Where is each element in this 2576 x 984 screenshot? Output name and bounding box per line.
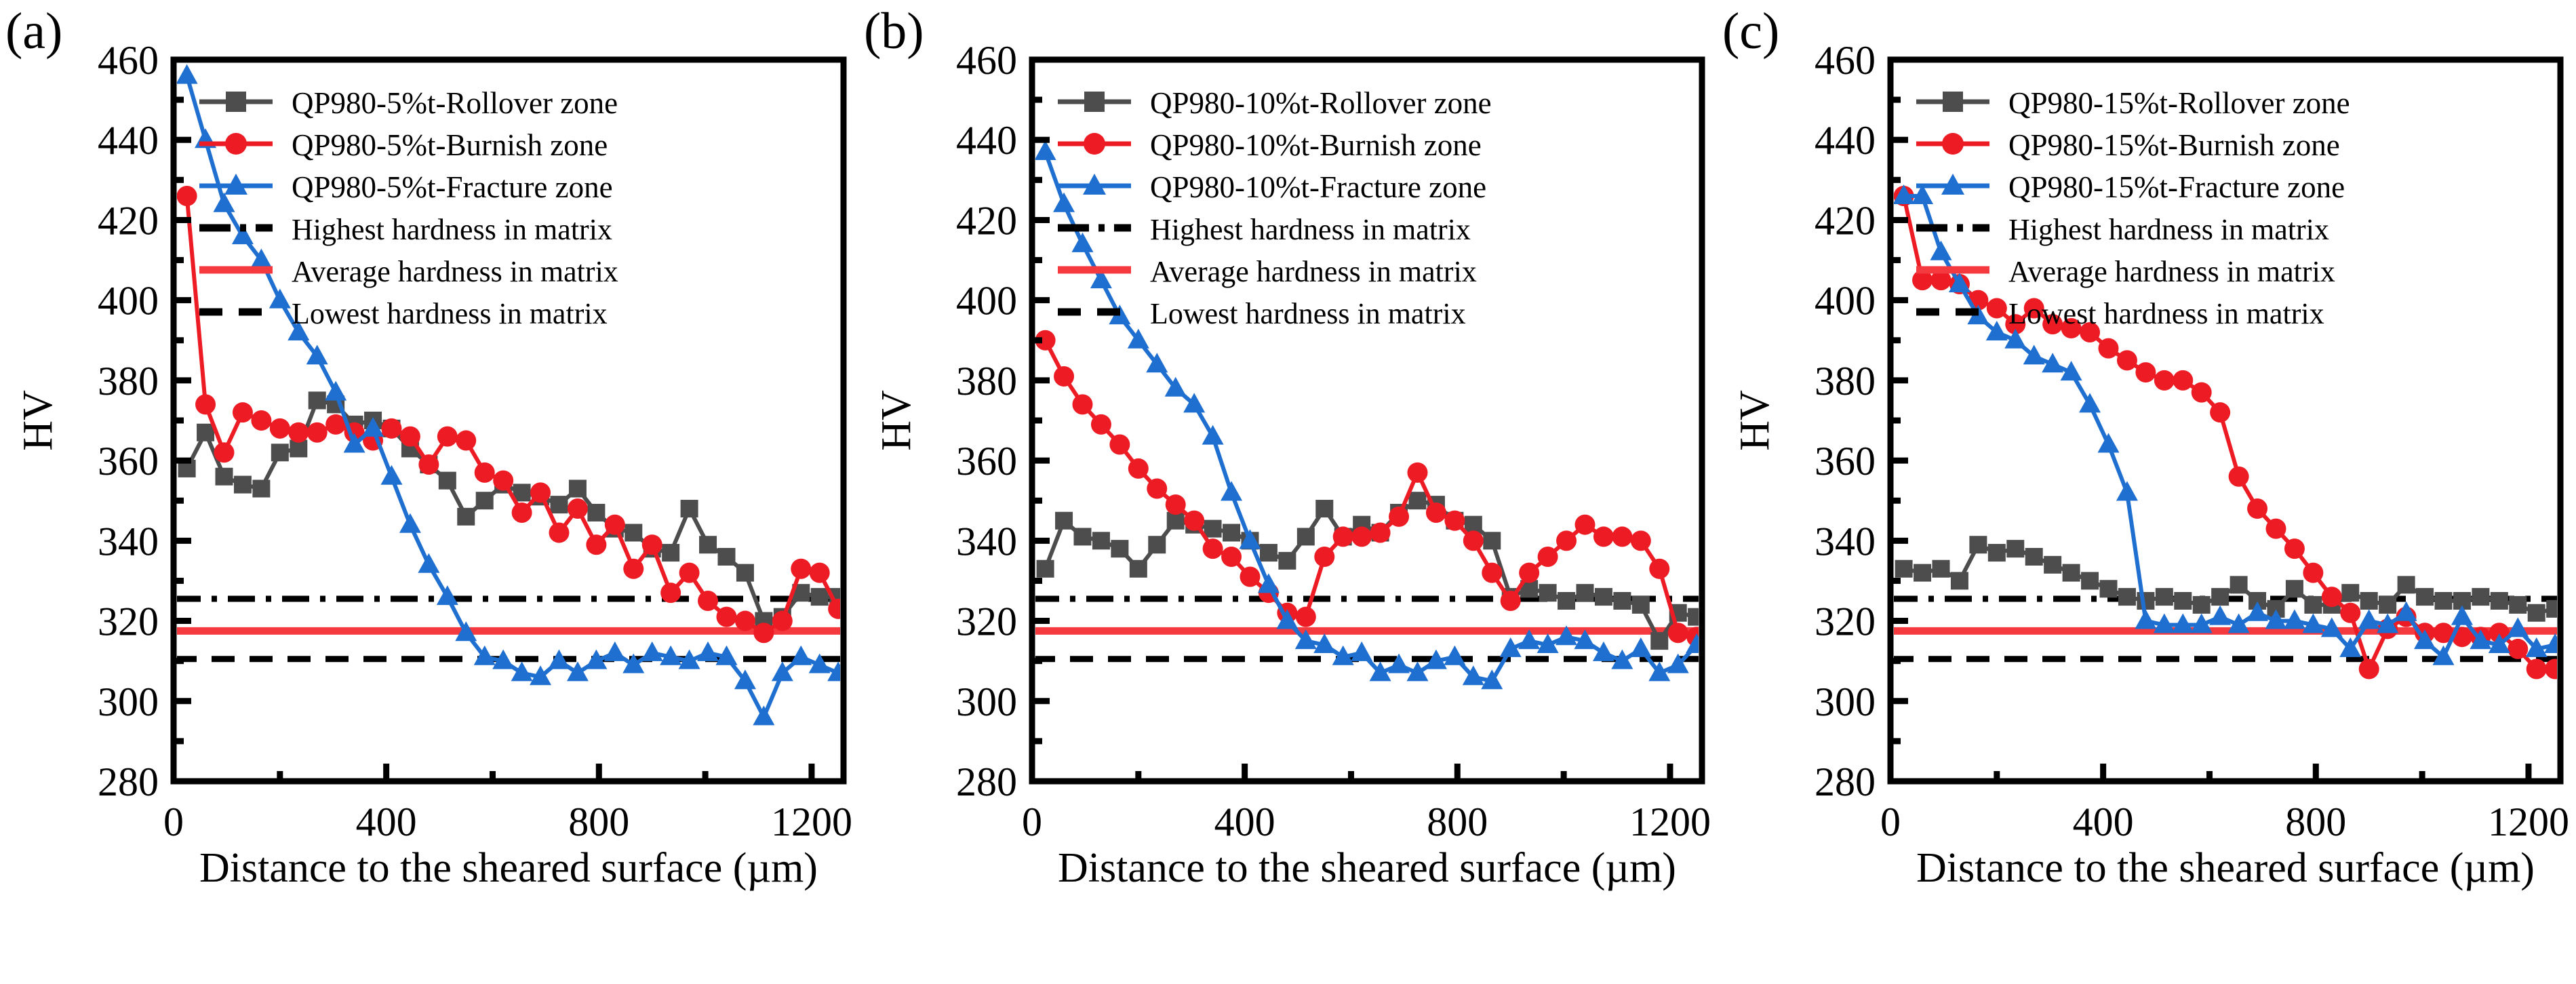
data-point-circle [1987, 298, 2007, 318]
data-point-square [2379, 596, 2396, 614]
x-axis-title: Distance to the sheared surface (µm) [1058, 845, 1676, 891]
y-tick-label: 300 [98, 680, 159, 724]
data-point-square [1204, 520, 1222, 538]
data-point-square [1315, 500, 1333, 517]
data-point-circle [437, 427, 458, 447]
data-point-circle [1556, 530, 1577, 551]
x-axis-title: Distance to the sheared surface (µm) [1916, 845, 2535, 891]
x-tick-label: 0 [1022, 800, 1042, 844]
plot-area: 4604404204003803603403203002800400800120… [1717, 0, 2575, 984]
data-point-square [309, 391, 326, 409]
legend-label: Lowest hardness in matrix [292, 297, 608, 330]
data-point-square [215, 468, 233, 486]
data-point-circle [1501, 591, 1521, 611]
data-point-circle [530, 482, 551, 503]
data-point-circle [2322, 587, 2342, 607]
legend-key-marker-circle [1942, 133, 1964, 155]
data-point-circle [2154, 370, 2175, 391]
data-point-circle [288, 422, 309, 443]
data-point-circle [753, 623, 774, 643]
data-point-square [2118, 588, 2136, 606]
data-point-square [2099, 580, 2117, 597]
data-point-circle [1444, 511, 1465, 531]
data-point-square [2341, 584, 2359, 602]
data-point-square [1408, 492, 1426, 509]
y-tick-label: 420 [98, 198, 159, 243]
data-point-circle [1166, 494, 1186, 515]
data-point-square [1130, 560, 1147, 578]
data-point-square [2434, 592, 2452, 610]
data-point-circle [214, 442, 234, 463]
data-point-circle [1333, 526, 1353, 547]
legend-label: Average hardness in matrix [2008, 255, 2335, 288]
data-point-circle [1184, 511, 1204, 531]
data-point-circle [2303, 563, 2323, 583]
legend-label: Highest hardness in matrix [292, 213, 612, 246]
data-point-circle [2247, 498, 2267, 519]
data-point-circle [1593, 526, 1614, 547]
data-point-square [1969, 536, 1987, 553]
data-point-circle [195, 394, 216, 414]
data-point-circle [1128, 458, 1149, 479]
data-point-square [1558, 592, 1575, 610]
data-point-square [1595, 588, 1612, 606]
data-point-circle [1147, 478, 1167, 498]
data-point-square [439, 472, 456, 490]
data-point-circle [660, 583, 681, 603]
data-point-circle [791, 559, 811, 579]
data-point-circle [679, 563, 700, 583]
y-tick-label: 360 [956, 439, 1017, 484]
data-point-circle [1109, 434, 1130, 454]
y-tick-label: 400 [1815, 279, 1876, 323]
data-point-circle [1203, 538, 1223, 559]
data-point-circle [1649, 559, 1669, 579]
data-point-circle [512, 503, 532, 523]
legend-key-marker-circle [225, 133, 247, 155]
data-point-circle [735, 611, 755, 631]
data-point-square [1037, 560, 1054, 578]
data-point-square [1988, 544, 2006, 562]
y-tick-label: 400 [98, 279, 159, 323]
data-point-square [1613, 592, 1631, 610]
data-point-circle [1370, 523, 1391, 543]
data-point-square [2491, 592, 2508, 610]
y-tick-label: 380 [98, 359, 159, 404]
data-point-square [2398, 576, 2415, 593]
chart-panel-2: (b)4604404204003803603403203002800400800… [858, 0, 1717, 984]
data-point-circle [2098, 338, 2118, 359]
data-point-circle [2173, 370, 2193, 391]
y-tick-label: 340 [98, 519, 159, 564]
y-tick-label: 380 [956, 359, 1017, 404]
x-tick-label: 1200 [2488, 800, 2569, 844]
data-point-circle [1407, 463, 1427, 483]
data-point-square [2025, 548, 2043, 566]
x-tick-label: 400 [356, 800, 417, 844]
data-point-square [1073, 528, 1091, 545]
data-point-circle [698, 591, 718, 611]
data-point-circle [2340, 603, 2360, 623]
data-point-circle [381, 418, 401, 439]
data-point-square [569, 479, 587, 497]
data-point-circle [418, 454, 439, 475]
data-point-circle [1072, 394, 1092, 414]
data-point-circle [251, 410, 271, 431]
data-point-circle [642, 534, 662, 555]
x-tick-label: 800 [1427, 800, 1488, 844]
legend-label: Lowest hardness in matrix [1150, 297, 1466, 330]
data-point-square [2044, 556, 2061, 574]
data-point-square [1632, 596, 1650, 614]
y-axis-title: HV [1732, 390, 1778, 451]
data-point-circle [1389, 507, 1409, 527]
data-point-circle [233, 402, 253, 422]
y-tick-label: 460 [1815, 38, 1876, 83]
legend-label: Highest hardness in matrix [1150, 213, 1471, 246]
hardness-profile-figure: (a)4604404204003803603403203002800400800… [0, 0, 2576, 984]
y-tick-label: 360 [1815, 439, 1876, 484]
data-point-square [1483, 532, 1501, 549]
y-tick-label: 420 [956, 198, 1017, 243]
data-point-square [717, 548, 735, 566]
data-point-square [1092, 532, 1110, 549]
x-tick-label: 0 [1880, 800, 1901, 844]
data-point-square [457, 508, 475, 526]
y-axis-title: HV [873, 390, 919, 451]
data-point-circle [2359, 658, 2379, 679]
y-tick-label: 400 [956, 279, 1017, 323]
x-tick-label: 1200 [1629, 800, 1711, 844]
data-point-square [2472, 588, 2489, 606]
data-point-square [271, 444, 289, 461]
data-point-square [2156, 588, 2173, 606]
y-tick-label: 440 [956, 118, 1017, 163]
data-point-circle [493, 471, 513, 491]
data-point-circle [772, 611, 793, 631]
x-axis-title: Distance to the sheared surface (µm) [199, 845, 818, 891]
data-point-square [1895, 560, 1913, 578]
data-point-circle [177, 186, 197, 206]
data-point-square [699, 536, 717, 553]
data-point-square [197, 424, 214, 441]
data-point-square [2509, 596, 2527, 614]
data-point-circle [400, 427, 420, 447]
data-point-square [681, 500, 698, 517]
data-point-square [1951, 572, 1968, 589]
data-point-square [1932, 560, 1949, 578]
data-point-circle [1314, 547, 1334, 567]
data-point-square [662, 544, 679, 562]
data-point-circle [1538, 547, 1558, 567]
legend-label: QP980-15%t-Fracture zone [2008, 170, 2345, 204]
data-point-square [1111, 540, 1128, 557]
y-tick-label: 300 [1815, 680, 1876, 724]
legend-key-marker-square [1084, 92, 1105, 112]
data-point-circle [2192, 382, 2212, 403]
legend-label: QP980-10%t-Burnish zone [1150, 128, 1482, 162]
data-point-square [1297, 528, 1315, 545]
data-point-square [476, 492, 494, 509]
data-point-circle [1612, 526, 1632, 547]
data-point-square [1278, 552, 1296, 570]
axes-frame [1032, 60, 1702, 781]
y-tick-label: 360 [98, 439, 159, 484]
data-point-circle [2210, 402, 2230, 422]
data-point-circle [1221, 547, 1242, 567]
data-point-square [1223, 524, 1240, 542]
y-tick-label: 420 [1815, 198, 1876, 243]
data-point-circle [1482, 563, 1502, 583]
data-point-circle [1463, 530, 1484, 551]
data-point-circle [2527, 658, 2547, 679]
legend-key-marker-square [226, 92, 246, 112]
chart-panel-1: (a)4604404204003803603403203002800400800… [0, 0, 858, 984]
y-tick-label: 300 [956, 680, 1017, 724]
legend-key-marker-square [1943, 92, 1963, 112]
legend-label: Average hardness in matrix [1150, 255, 1477, 288]
y-tick-label: 440 [1815, 118, 1876, 163]
data-point-square [2063, 564, 2080, 582]
y-tick-label: 320 [956, 599, 1017, 644]
data-point-circle [1240, 567, 1260, 587]
legend-label: Average hardness in matrix [292, 255, 618, 288]
data-point-square [2006, 540, 2024, 557]
x-tick-label: 0 [163, 800, 184, 844]
data-point-square [2304, 596, 2322, 614]
data-point-circle [1351, 526, 1372, 547]
data-point-square [2211, 588, 2229, 606]
y-tick-label: 340 [1815, 519, 1876, 564]
data-point-square [1539, 584, 1557, 602]
data-point-circle [623, 559, 643, 579]
y-tick-label: 460 [98, 38, 159, 83]
data-point-circle [2135, 362, 2156, 382]
data-point-square [1914, 564, 1931, 582]
data-point-circle [1426, 503, 1446, 523]
chart-panel-3: (c)4604404204003803603403203002800400800… [1717, 0, 2575, 984]
data-point-square [587, 504, 605, 521]
data-point-circle [2117, 350, 2137, 370]
data-point-square [625, 524, 642, 542]
data-point-square [2416, 588, 2434, 606]
x-tick-label: 400 [2073, 800, 2134, 844]
y-tick-label: 380 [1815, 359, 1876, 404]
legend-label: Highest hardness in matrix [2008, 213, 2329, 246]
data-point-circle [605, 515, 625, 535]
data-point-circle [2229, 467, 2249, 487]
y-tick-label: 280 [956, 760, 1017, 804]
data-point-circle [810, 563, 830, 583]
data-point-circle [1668, 623, 1688, 643]
data-point-square [234, 476, 252, 494]
legend-label: QP980-5%t-Rollover zone [292, 86, 618, 120]
data-point-circle [1091, 414, 1111, 435]
legend-label: QP980-5%t-Fracture zone [292, 170, 613, 204]
x-tick-label: 800 [568, 800, 629, 844]
data-point-square [2081, 572, 2099, 589]
data-point-circle [1631, 530, 1651, 551]
data-point-square [1148, 536, 1166, 553]
data-point-square [252, 479, 270, 497]
legend-label: QP980-15%t-Rollover zone [2008, 86, 2350, 120]
y-tick-label: 320 [98, 599, 159, 644]
data-point-square [2193, 596, 2211, 614]
data-point-square [1576, 584, 1593, 602]
data-point-circle [2284, 538, 2305, 559]
y-tick-label: 440 [98, 118, 159, 163]
data-point-circle [1296, 607, 1316, 627]
data-point-circle [270, 418, 290, 439]
data-point-square [811, 588, 829, 606]
data-point-circle [549, 523, 569, 543]
data-point-circle [568, 498, 588, 519]
y-axis-title: HV [15, 390, 61, 451]
legend-label: QP980-5%t-Burnish zone [292, 128, 608, 162]
plot-area: 4604404204003803603403203002800400800120… [858, 0, 1717, 984]
data-point-circle [475, 463, 495, 483]
data-point-square [2230, 576, 2248, 593]
data-point-circle [1054, 366, 1074, 387]
legend-label: Lowest hardness in matrix [2008, 297, 2324, 330]
data-point-square [2528, 604, 2545, 622]
data-point-square [2286, 580, 2303, 597]
data-point-square [736, 564, 754, 582]
data-point-circle [1519, 563, 1539, 583]
legend-label: QP980-10%t-Rollover zone [1150, 86, 1492, 120]
x-tick-label: 800 [2285, 800, 2346, 844]
data-point-circle [1574, 515, 1595, 535]
y-tick-label: 460 [956, 38, 1017, 83]
data-point-square [550, 496, 568, 513]
data-point-circle [586, 534, 606, 555]
y-tick-label: 340 [956, 519, 1017, 564]
data-point-circle [2265, 519, 2286, 539]
plot-area: 4604404204003803603403203002800400800120… [0, 0, 858, 984]
x-tick-label: 400 [1214, 800, 1275, 844]
legend-key-marker-circle [1084, 133, 1105, 155]
data-point-square [2360, 592, 2378, 610]
data-point-square [1055, 512, 1073, 530]
data-point-square [1260, 544, 1277, 562]
x-tick-label: 1200 [771, 800, 852, 844]
data-point-square [1650, 632, 1668, 650]
data-point-circle [716, 607, 736, 627]
data-point-circle [307, 422, 328, 443]
y-tick-label: 280 [1815, 760, 1876, 804]
data-point-square [2174, 592, 2192, 610]
legend-label: QP980-10%t-Fracture zone [1150, 170, 1486, 204]
y-tick-label: 320 [1815, 599, 1876, 644]
legend-label: QP980-15%t-Burnish zone [2008, 128, 2340, 162]
data-point-circle [2508, 639, 2528, 659]
y-tick-label: 280 [98, 760, 159, 804]
data-point-circle [456, 431, 476, 451]
